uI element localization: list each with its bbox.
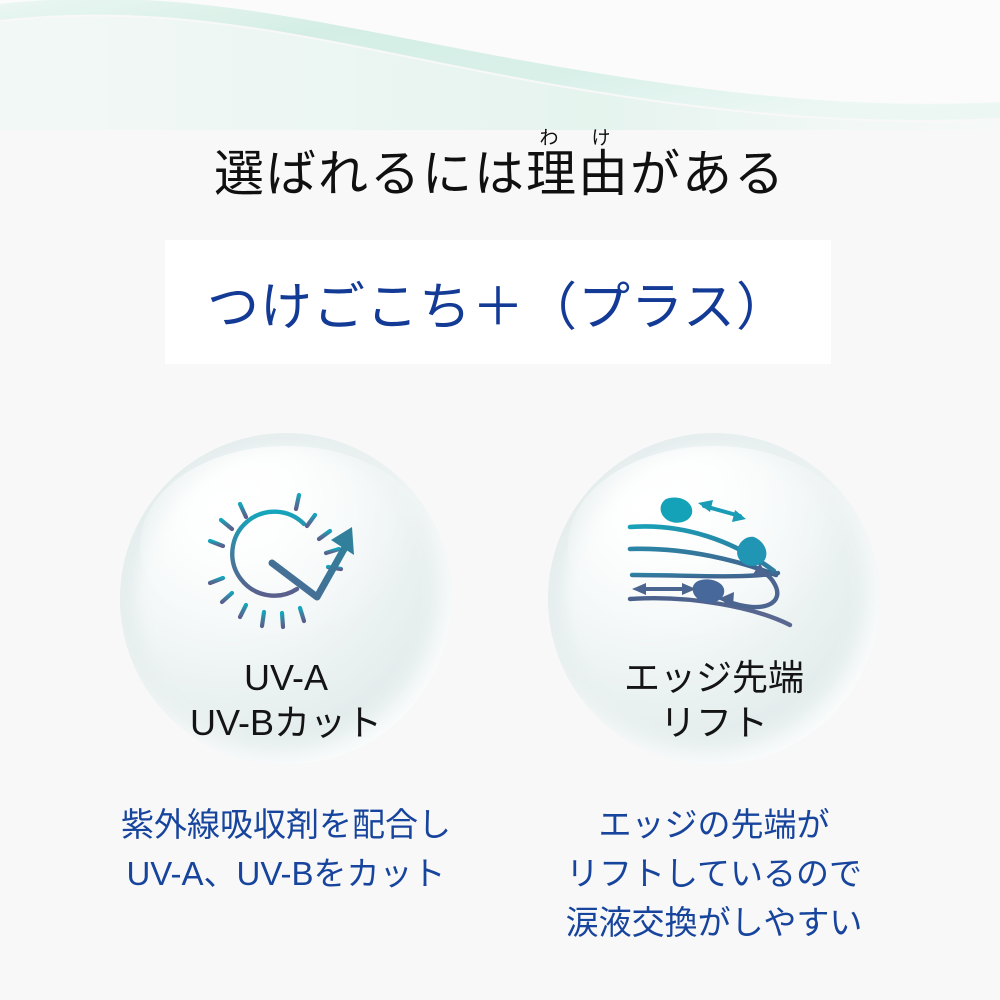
feature-orb-label-edge-lift: エッジ先端 リフト	[624, 655, 804, 746]
subtitle-panel: つけごこち＋（プラス）	[165, 240, 831, 364]
orb-label-line1: UV-A	[244, 657, 328, 698]
feature-item-uv: UV-A UV-Bカット 紫外線吸収剤を配合し UV-A、UV-Bをカット	[91, 433, 481, 947]
caption-line: リフトしているので	[566, 850, 863, 899]
caption-line: 紫外線吸収剤を配合し	[121, 801, 451, 850]
orb-label-line1: エッジ先端	[624, 657, 804, 698]
feature-item-edge-lift: エッジ先端 リフト エッジの先端が リフトしているので 涙液交換がしやすい	[519, 433, 909, 947]
caption-line: UV-A、UV-Bをカット	[121, 850, 451, 899]
top-wave-decoration	[0, 0, 1000, 130]
promo-page: 選ばれるには理由わけがある つけごこち＋（プラス）	[0, 0, 1000, 1000]
headline-part-after: がある	[630, 146, 786, 202]
headline-ruby-group: 理由わけ	[526, 146, 630, 202]
page-title: 選ばれるには理由わけがある	[214, 128, 786, 203]
headline-part-before: 選ばれるには	[214, 146, 526, 202]
caption-line: 涙液交換がしやすい	[566, 899, 863, 948]
uv-sun-arrow-icon	[186, 479, 386, 629]
feature-orb-uv: UV-A UV-Bカット	[120, 433, 452, 765]
orb-label-line2: リフト	[624, 700, 804, 745]
orb-label-line2: UV-Bカット	[190, 700, 382, 745]
feature-caption-edge-lift: エッジの先端が リフトしているので 涙液交換がしやすい	[566, 801, 863, 947]
feature-orb-edge-lift: エッジ先端 リフト	[548, 433, 880, 765]
feature-caption-uv: 紫外線吸収剤を配合し UV-A、UV-Bをカット	[121, 801, 451, 899]
feature-list: UV-A UV-Bカット 紫外線吸収剤を配合し UV-A、UV-Bをカット	[0, 433, 1000, 947]
headline-ruby-base: 理由	[526, 146, 630, 202]
subtitle-text: つけごこち＋（プラス）	[207, 265, 789, 340]
feature-orb-label-uv: UV-A UV-Bカット	[190, 655, 382, 746]
headline-ruby-furigana: わけ	[526, 128, 630, 149]
caption-line: エッジの先端が	[566, 801, 863, 850]
edge-lift-tear-flow-icon	[614, 479, 814, 629]
headline-container: 選ばれるには理由わけがある	[0, 128, 1000, 203]
